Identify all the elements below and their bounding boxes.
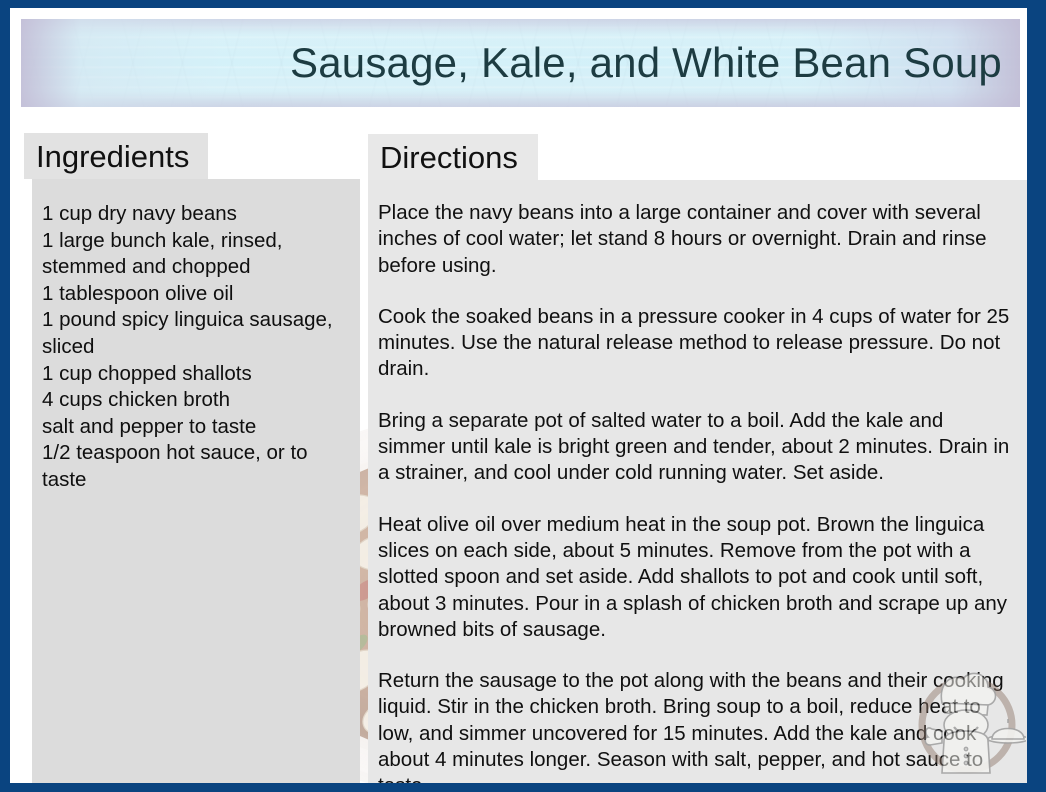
list-item: taste bbox=[34, 467, 350, 494]
direction-step: Place the navy beans into a large contai… bbox=[378, 200, 1013, 279]
ingredients-header: Ingredients bbox=[24, 133, 208, 179]
ingredients-panel: 1 cup dry navy beans 1 large bunch kale,… bbox=[32, 179, 360, 783]
direction-step: Cook the soaked beans in a pressure cook… bbox=[378, 304, 1013, 383]
title-banner: Sausage, Kale, and White Bean Soup bbox=[21, 19, 1020, 107]
directions-header: Directions bbox=[368, 134, 538, 180]
direction-step: Return the sausage to the pot along with… bbox=[378, 668, 1013, 792]
direction-step: Bring a separate pot of salted water to … bbox=[378, 408, 1013, 487]
list-item: 1/2 teaspoon hot sauce, or to bbox=[34, 440, 350, 467]
list-item: sliced bbox=[34, 334, 350, 361]
recipe-card: Sausage, Kale, and White Bean Soup bbox=[0, 0, 1046, 792]
list-item: 1 cup dry navy beans bbox=[34, 201, 350, 228]
list-item: 1 cup chopped shallots bbox=[34, 361, 350, 388]
ingredients-heading-label: Ingredients bbox=[36, 141, 189, 172]
list-item: 1 tablespoon olive oil bbox=[34, 281, 350, 308]
direction-step: Heat olive oil over medium heat in the s… bbox=[378, 512, 1013, 643]
list-item: 4 cups chicken broth bbox=[34, 387, 350, 414]
recipe-card-inner: Sausage, Kale, and White Bean Soup bbox=[10, 8, 1027, 783]
list-item: salt and pepper to taste bbox=[34, 414, 350, 441]
list-item: 1 large bunch kale, rinsed, bbox=[34, 228, 350, 255]
directions-panel: Place the navy beans into a large contai… bbox=[368, 180, 1027, 783]
page-title: Sausage, Kale, and White Bean Soup bbox=[290, 42, 1002, 84]
list-item: stemmed and chopped bbox=[34, 254, 350, 281]
list-item: 1 pound spicy linguica sausage, bbox=[34, 307, 350, 334]
directions-heading-label: Directions bbox=[380, 142, 518, 173]
left-gutter bbox=[24, 179, 32, 783]
